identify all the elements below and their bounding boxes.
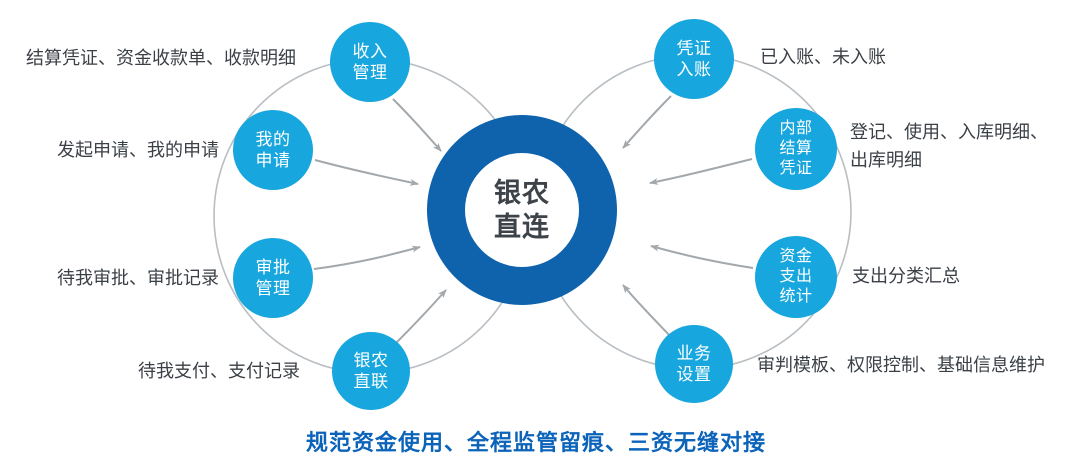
label-line: 发起申请、我的申请 — [0, 136, 219, 164]
label-line: 支出分类汇总 — [852, 262, 960, 290]
arrow-income-management — [393, 99, 441, 151]
node-label-line: 资金 — [779, 247, 812, 267]
node-label-line: 凭证 — [677, 38, 712, 59]
node-fund-expenditure-statistics[interactable]: 资金 支出 统计 — [755, 236, 837, 318]
label-line: 结算凭证、资金收款单、收款明细 — [0, 44, 296, 72]
arrow-internal-settlement-voucher — [650, 159, 752, 183]
node-label-line: 统计 — [779, 287, 812, 307]
node-internal-settlement-voucher[interactable]: 内部 结算 凭证 — [755, 108, 837, 190]
node-label-line: 支出 — [779, 267, 812, 287]
node-label-line: 入账 — [677, 59, 712, 80]
node-my-application[interactable]: 我的 申请 — [233, 110, 313, 190]
arrow-voucher-posting — [623, 96, 671, 148]
node-bank-agri-direct-link[interactable]: 银农 直联 — [332, 332, 410, 410]
label-line: 已入账、未入账 — [760, 43, 886, 71]
node-label-line: 凭证 — [779, 159, 812, 179]
label-approval-management: 待我审批、审批记录 — [0, 264, 219, 292]
node-label-line: 申请 — [256, 150, 291, 171]
label-line: 待我审批、审批记录 — [0, 264, 219, 292]
label-line: 出库明细 — [850, 146, 1048, 174]
label-line: 待我支付、支付记录 — [0, 357, 300, 385]
node-label-line: 直联 — [354, 371, 389, 392]
hub-label: 银农 直连 — [465, 153, 579, 267]
label-internal-settlement-voucher: 登记、使用、入库明细、 出库明细 — [850, 118, 1048, 174]
label-business-settings: 审判模板、权限控制、基础信息维护 — [757, 351, 1045, 379]
label-line: 审判模板、权限控制、基础信息维护 — [757, 351, 1045, 379]
node-label-line: 管理 — [256, 278, 291, 299]
arrow-fund-expenditure-statistics — [651, 246, 753, 268]
node-label-line: 收入 — [353, 41, 388, 62]
hub-node[interactable]: 银农 直连 — [427, 115, 617, 305]
node-label-line: 我的 — [256, 129, 291, 150]
arrow-approval-management — [314, 247, 420, 269]
label-fund-expenditure-statistics: 支出分类汇总 — [852, 262, 960, 290]
diagram-canvas: 银农 直连 收入 管理 我的 申请 审批 管理 银农 直联 凭证 入账 内部 结… — [0, 0, 1072, 471]
hub-label-line-1: 银农 — [494, 176, 550, 210]
footer-caption: 规范资金使用、全程监管留痕、三资无缝对接 — [0, 425, 1072, 457]
node-business-settings[interactable]: 业务 设置 — [655, 325, 733, 403]
node-label-line: 设置 — [677, 364, 712, 385]
node-label-line: 业务 — [677, 343, 712, 364]
node-approval-management[interactable]: 审批 管理 — [233, 238, 313, 318]
label-line: 登记、使用、入库明细、 — [850, 118, 1048, 146]
node-label-line: 内部 — [779, 119, 812, 139]
arrow-my-application — [315, 160, 418, 184]
label-income-management: 结算凭证、资金收款单、收款明细 — [0, 44, 296, 72]
label-bank-agri-direct-link: 待我支付、支付记录 — [0, 357, 300, 385]
node-income-management[interactable]: 收入 管理 — [330, 22, 410, 102]
label-my-application: 发起申请、我的申请 — [0, 136, 219, 164]
node-label-line: 银农 — [354, 350, 389, 371]
node-label-line: 结算 — [779, 139, 812, 159]
label-voucher-posting: 已入账、未入账 — [760, 43, 886, 71]
hub-label-line-2: 直连 — [494, 210, 550, 244]
arrow-bank-agri-direct-link — [395, 290, 446, 344]
node-voucher-posting[interactable]: 凭证 入账 — [654, 19, 734, 99]
node-label-line: 审批 — [256, 257, 291, 278]
arrow-business-settings — [623, 285, 671, 337]
node-label-line: 管理 — [353, 62, 388, 83]
